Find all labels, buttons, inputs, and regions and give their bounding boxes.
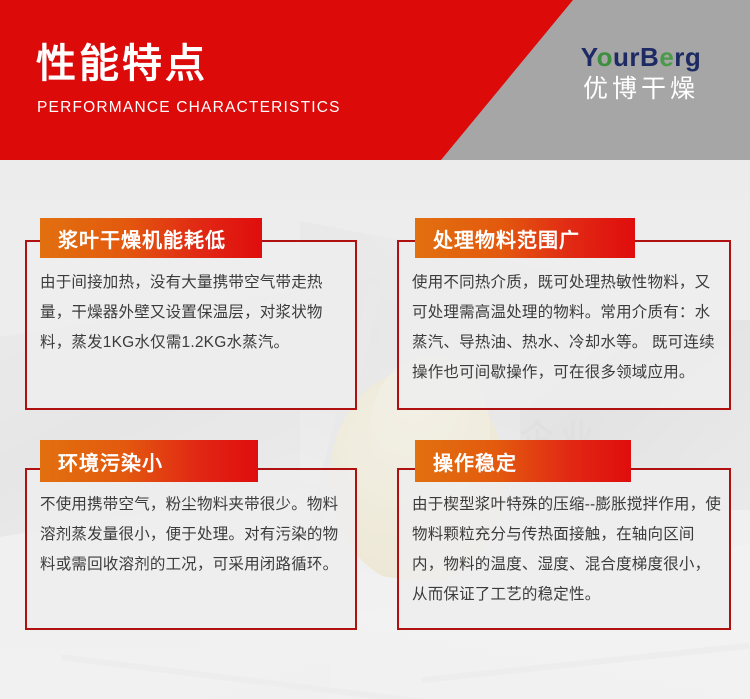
logo-chinese-name: 优博干燥 (556, 77, 726, 102)
feature-badge-2: 处理物料范围广 (415, 218, 635, 258)
feature-text-3: 不使用携带空气，粉尘物料夹带很少。物料溶剂蒸发量很小，便于处理。对有污染的物料或… (40, 490, 345, 580)
feature-badge-3: 环境污染小 (40, 440, 258, 482)
page-root: 企业 性能特点 PERFORMANCE CHARACTERISTICS Your… (0, 0, 750, 699)
feature-text-1: 由于间接加热，没有大量携带空气带走热量，干燥器外壁又设置保温层，对浆状物料，蒸发… (40, 268, 345, 358)
feature-text-4: 由于楔型浆叶特殊的压缩--膨胀搅拌作用，使物料颗粒充分与传热面接触，在轴向区间内… (412, 490, 724, 610)
feature-badge-1: 浆叶干燥机能耗低 (40, 218, 262, 258)
feature-text-2: 使用不同热介质，既可处理热敏性物料，又可处理需高温处理的物料。常用介质有：水蒸汽… (412, 268, 722, 388)
page-title: 性能特点 (36, 44, 208, 84)
feature-badge-4: 操作稳定 (415, 440, 631, 482)
brand-logo: YourBerg 优博干燥 (556, 44, 726, 102)
page-subtitle: PERFORMANCE CHARACTERISTICS (37, 99, 341, 117)
logo-wordmark: YourBerg (556, 44, 726, 70)
page-header: 性能特点 PERFORMANCE CHARACTERISTICS YourBer… (0, 0, 750, 160)
